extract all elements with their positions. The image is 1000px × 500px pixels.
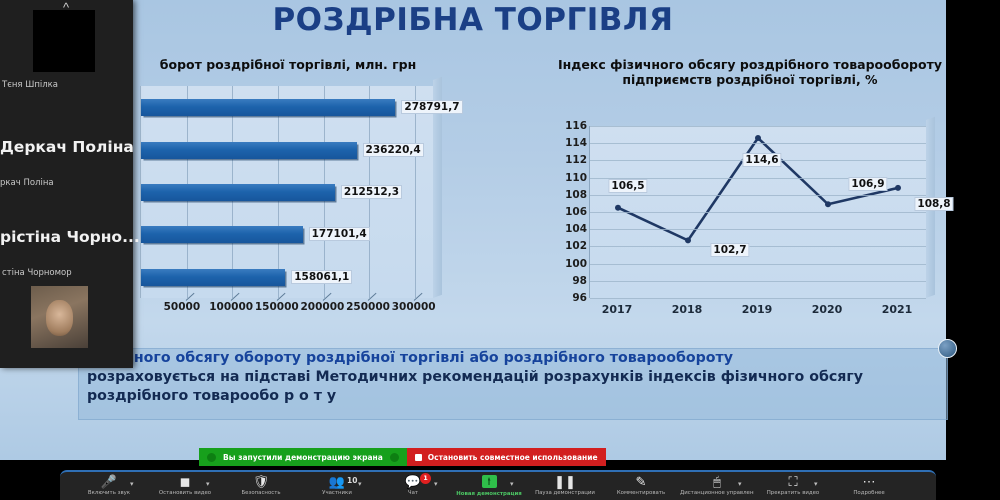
toolbar-item-shield[interactable]: 🛡Безопасность [224, 474, 298, 496]
line-chart-x-axis: 20172018201920202021 [589, 303, 929, 321]
retail-index-line-chart: Індекс фізичного обсягу роздрібного това… [531, 58, 941, 328]
bar-row [141, 226, 433, 243]
bar [141, 184, 335, 201]
participant-name-small: Тєня Шпілка [2, 80, 58, 90]
x-tick-label: 2017 [602, 303, 633, 316]
toolbar-item-label: Подробнее [832, 490, 906, 496]
y-tick-label: 114 [565, 137, 587, 149]
tick-mark [368, 291, 378, 301]
body-text-line-1: фізичного обсягу обороту роздрібної торг… [79, 349, 947, 368]
microphone-icon: 🎤 [72, 474, 146, 490]
line-chart-title: Індекс фізичного обсягу роздрібного това… [555, 58, 945, 88]
screen-share-banner: Вы запустили демонстрацию экрана Останов… [199, 448, 606, 466]
toolbar-item-label: Безопасность [224, 490, 298, 496]
tick-mark [186, 291, 196, 301]
slide-text-box[interactable]: фізичного обсягу обороту роздрібної торг… [78, 348, 948, 420]
participant-video-panel[interactable]: ^ Тєня Шпілка Деркач Поліна ркач Поліна … [0, 0, 133, 368]
line-chart-plot-area: 106,5102,7114,6106,9108,8 [589, 126, 926, 298]
sharing-status-pill: Вы запустили демонстрацию экрана [199, 448, 407, 466]
toolbar-item-label: Новая демонстрация [452, 491, 526, 497]
bar-chart-x-axis: 50000100000150000200000250000300000 [140, 301, 440, 323]
x-tick-label: 2021 [882, 303, 913, 316]
pencil-icon: ✎ [604, 474, 678, 490]
stop-share-button[interactable]: Остановить совместное использование [407, 448, 606, 466]
more-icon: ⋯ [832, 474, 906, 490]
point-value-label: 114,6 [742, 153, 781, 167]
point-value-label: 108,8 [914, 197, 953, 211]
line-chart-y-axis: 9698100102104106108110112114116 [561, 120, 587, 304]
remote-control-icon: 🖱 [680, 474, 754, 490]
bar [141, 226, 303, 243]
y-tick-label: 110 [565, 172, 587, 184]
toolbar-item-fullscreen[interactable]: ⛶Прекратить видео [756, 474, 830, 496]
y-tick-label: 108 [565, 189, 587, 201]
x-tick-label: 250000 [346, 301, 390, 313]
presentation-slide: РОЗДРІБНА ТОРГІВЛЯ борот роздрібної торг… [0, 0, 946, 460]
gridline [590, 229, 926, 230]
video-tile[interactable]: Деркач Поліна ркач Поліна [0, 120, 133, 230]
video-thumbnail [33, 10, 95, 72]
stop-square-icon [415, 454, 422, 461]
toolbar-item-camera[interactable]: ◼Остановить видео [148, 474, 222, 496]
tick-mark [414, 291, 424, 301]
toolbar-item-label: Комментировать [604, 490, 678, 496]
bar-chart-title: борот роздрібної торгівлі, млн. грн [138, 58, 438, 73]
upload-icon [207, 453, 216, 462]
body-text-line-3: роздрібного товарообо р о т у [79, 387, 947, 406]
camera-icon: ◼ [148, 474, 222, 490]
toolbar-item-label: Дистанционное управление [680, 490, 754, 496]
point-value-label: 102,7 [710, 243, 749, 257]
gridline [590, 264, 926, 265]
tick-mark [323, 291, 333, 301]
page-title: РОЗДРІБНА ТОРГІВЛЯ [0, 2, 946, 38]
bar-value-label: 278791,7 [401, 100, 462, 114]
gridline [590, 212, 926, 213]
body-text-line-2: розраховується на підставі Методичних ре… [79, 368, 947, 387]
participant-face-image [31, 286, 88, 348]
bar-row [141, 269, 433, 286]
toolbar-item-label: Пауза демонстрации [528, 490, 602, 496]
toolbar-item-microphone[interactable]: 🎤Включить звук [72, 474, 146, 496]
bar-row [141, 99, 433, 116]
stop-share-label: Остановить совместное использование [428, 453, 598, 462]
gridline [590, 246, 926, 247]
x-tick-label: 100000 [209, 301, 253, 313]
y-tick-label: 104 [565, 223, 587, 235]
fullscreen-icon: ⛶ [756, 474, 830, 490]
toolbar-item-label: Включить звук [72, 490, 146, 496]
gridline [590, 298, 926, 299]
y-tick-label: 98 [572, 275, 587, 287]
toolbar-item-label: Прекратить видео [756, 490, 830, 496]
toolbar-item-pause[interactable]: ❚❚Пауза демонстрации [528, 474, 602, 496]
retail-turnover-bar-chart: борот роздрібної торгівлі, млн. грн 2787… [140, 58, 440, 328]
toolbar-item-chat[interactable]: 💬Чат [376, 474, 450, 496]
settings-icon[interactable] [390, 453, 399, 462]
sharing-status-label: Вы запустили демонстрацию экрана [223, 453, 383, 462]
bar-value-label: 236220,4 [363, 143, 424, 157]
share-screen-icon [452, 475, 526, 491]
gridline [590, 143, 926, 144]
gridline [590, 126, 926, 127]
bar-value-label: 158061,1 [291, 270, 352, 284]
x-tick-label: 50000 [164, 301, 201, 313]
toolbar-item-share-screen[interactable]: Новая демонстрация [452, 474, 526, 497]
x-tick-label: 2020 [812, 303, 843, 316]
bar-value-label: 212512,3 [341, 185, 402, 199]
point-value-label: 106,5 [608, 179, 647, 193]
y-tick-label: 106 [565, 206, 587, 218]
participant-name-large: Деркач Поліна [0, 138, 134, 156]
participant-name-large: рістіна Чорно... [0, 228, 140, 246]
video-tile[interactable]: рістіна Чорно... стіна Чорномор [0, 222, 133, 368]
video-tile[interactable]: Тєня Шпілка [0, 10, 133, 128]
bar [141, 269, 285, 286]
toolbar-item-remote-control[interactable]: 🖱Дистанционное управление [680, 474, 754, 496]
gridline [590, 281, 926, 282]
toolbar-item-label: Остановить видео [148, 490, 222, 496]
shield-icon: 🛡 [224, 474, 298, 490]
bar-value-label: 177101,4 [309, 227, 370, 241]
y-tick-label: 116 [565, 120, 587, 132]
x-tick-label: 200000 [301, 301, 345, 313]
bar [141, 99, 395, 116]
toolbar-item-label: Участники [300, 490, 374, 496]
tick-mark [277, 291, 287, 301]
y-tick-label: 102 [565, 240, 587, 252]
toolbar-item-participants[interactable]: 👥Участники [300, 474, 374, 496]
gridline [590, 195, 926, 196]
chat-icon: 💬 [376, 474, 450, 490]
toolbar-item-more[interactable]: ⋯Подробнее [832, 474, 906, 496]
meeting-toolbar[interactable]: ▾🎤Включить звук▾◼Остановить видео🛡Безопа… [60, 470, 936, 500]
pause-icon: ❚❚ [528, 474, 602, 490]
point-value-label: 106,9 [848, 177, 887, 191]
resize-handle[interactable] [938, 339, 957, 358]
x-tick-label: 2019 [742, 303, 773, 316]
bar-chart-plot-area: 278791,7236220,4212512,3177101,4158061,1 [140, 86, 433, 298]
x-tick-label: 300000 [392, 301, 436, 313]
toolbar-item-pencil[interactable]: ✎Комментировать [604, 474, 678, 496]
x-tick-label: 150000 [255, 301, 299, 313]
toolbar-item-label: Чат [376, 490, 450, 496]
bar [141, 142, 357, 159]
tick-mark [231, 291, 241, 301]
y-tick-label: 112 [565, 154, 587, 166]
y-tick-label: 100 [565, 258, 587, 270]
x-tick-label: 2018 [672, 303, 703, 316]
participant-name-small: ркач Поліна [0, 178, 54, 188]
participant-name-small: стіна Чорномор [2, 268, 72, 278]
screen-share-window: РОЗДРІБНА ТОРГІВЛЯ борот роздрібної торг… [0, 0, 1000, 500]
y-tick-label: 96 [572, 292, 587, 304]
avatar [31, 286, 88, 348]
participants-icon: 👥 [300, 474, 374, 490]
